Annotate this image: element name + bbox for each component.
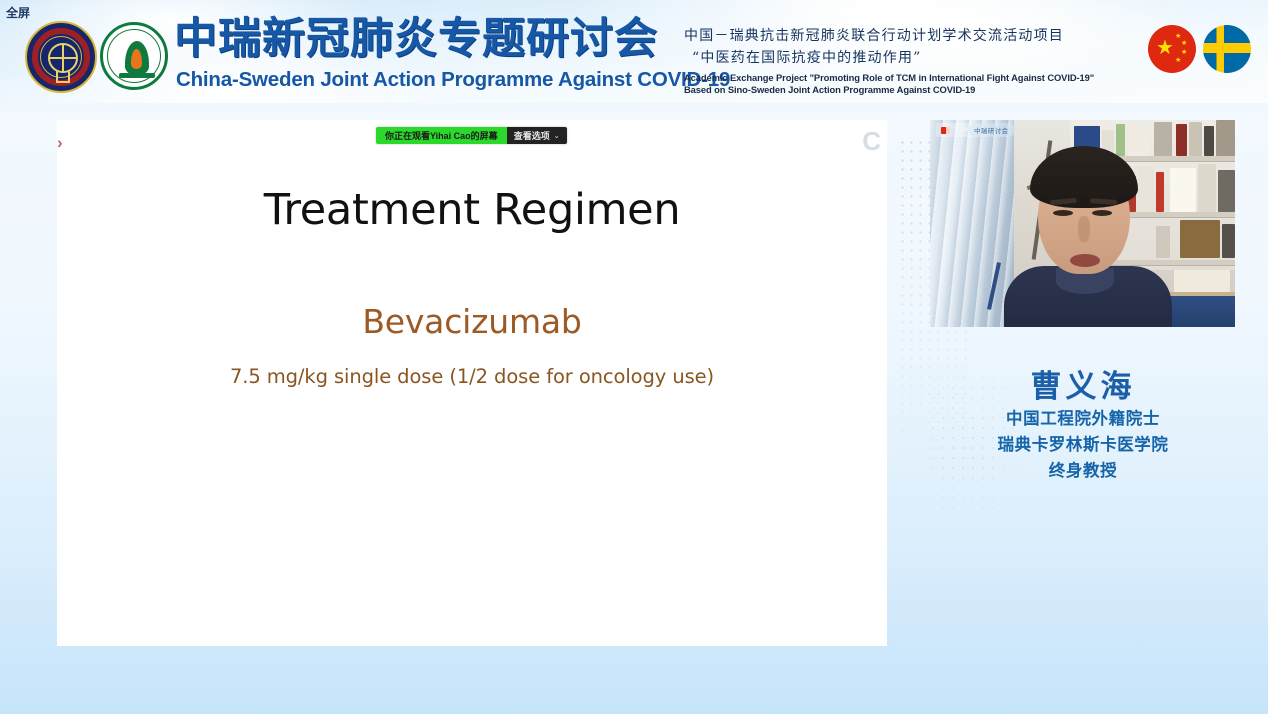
slide-title: Treatment Regimen — [57, 185, 887, 235]
emblem-base-bar — [119, 73, 155, 78]
speaker-nose — [1078, 216, 1090, 242]
speaker-eye-right — [1092, 210, 1112, 216]
slide-dose-text: 7.5 mg/kg single dose (1/2 dose for onco… — [57, 365, 887, 388]
shelf-item — [1156, 172, 1164, 212]
flag-star-small-2: ★ — [1181, 40, 1187, 47]
shelf-item — [1198, 164, 1216, 212]
chevron-down-icon: ⌄ — [554, 132, 560, 140]
shelf-item — [1116, 124, 1125, 156]
shelf-item — [1189, 122, 1202, 156]
flag-star-small-4: ★ — [1175, 57, 1181, 64]
event-header-banner: 中瑞新冠肺炎专题研讨会 China-Sweden Joint Action Pr… — [0, 0, 1268, 103]
fullscreen-label[interactable]: 全屏 — [6, 4, 30, 21]
shared-slide-canvas: › C Treatment Regimen Bevacizumab 7.5 mg… — [57, 120, 887, 646]
subtitle-chinese-line-1: 中国－瑞典抗击新冠肺炎联合行动计划学术交流活动项目 — [684, 25, 1144, 45]
shelf-item — [1204, 126, 1214, 156]
video-secondary-badge-label: 中瑞研讨会 — [974, 125, 1009, 135]
screen-share-notice-text: 你正在观看Yihai Cao的屏幕 — [376, 127, 507, 144]
view-options-button[interactable]: 查看选项 ⌄ — [507, 127, 567, 144]
meeting-screen-share-view: 中瑞新冠肺炎专题研讨会 China-Sweden Joint Action Pr… — [0, 0, 1268, 714]
badge-flag-icon — [941, 127, 950, 134]
subtitle-chinese-line-2: “中医药在国际抗疫中的推动作用” — [684, 47, 1144, 67]
slide-artifact-right-glyph: C — [862, 128, 881, 154]
slide-drug-name: Bevacizumab — [57, 302, 887, 341]
shelf-item — [1218, 170, 1235, 212]
speaker-title-line-1: 中国工程院外籍院士 — [898, 405, 1268, 429]
shelf-item — [1216, 120, 1235, 156]
event-title-english: China-Sweden Joint Action Programme Agai… — [176, 68, 730, 92]
flag-star-small-1: ★ — [1175, 33, 1181, 40]
shelf-item — [1180, 220, 1220, 258]
cacm-emblem-icon — [100, 22, 168, 90]
who-globe-emblem-icon — [25, 21, 97, 93]
sweden-flag-icon — [1203, 25, 1251, 73]
video-secondary-badge: 中瑞研讨会 — [968, 123, 1015, 137]
slide-artifact-left-glyph: › — [57, 133, 63, 153]
speaker-mouth — [1070, 254, 1100, 267]
shelf-item — [1170, 168, 1196, 212]
flame-icon — [131, 49, 142, 69]
screen-share-notification-bar: 你正在观看Yihai Cao的屏幕 查看选项 ⌄ — [376, 127, 567, 144]
shelf-item — [1138, 166, 1154, 212]
speaker-name: 曹义海 — [898, 361, 1268, 406]
shelf-item — [1156, 226, 1170, 258]
flag-star-small-3: ★ — [1181, 49, 1187, 56]
subtitle-english-line-1: Academic Exchange Project "Promoting Rol… — [684, 72, 1144, 83]
shelf-item — [1128, 128, 1150, 156]
shelf-item — [1154, 122, 1172, 156]
shelf-item — [1176, 124, 1187, 156]
globe-stand-icon — [56, 71, 70, 83]
speaker-title-line-3: 终身教授 — [898, 457, 1268, 481]
speaker-title-line-2: 瑞典卡罗林斯卡医学院 — [898, 431, 1268, 455]
event-subtitle-block: 中国－瑞典抗击新冠肺炎联合行动计划学术交流活动项目 “中医药在国际抗疫中的推动作… — [684, 25, 1144, 95]
globe-icon — [48, 43, 78, 73]
china-flag-icon: ★ ★ ★ ★ ★ — [1148, 25, 1196, 73]
speaker-eye-left — [1053, 210, 1073, 216]
subtitle-english-line-2: Based on Sino-Sweden Joint Action Progra… — [684, 84, 1144, 95]
view-options-label: 查看选项 — [514, 129, 550, 142]
shelf-item — [1222, 224, 1235, 258]
speaker-panel: Yihai Cao 中瑞研讨会 曹义海 中国工程院外籍院士 瑞典卡罗林斯卡医学院… — [898, 118, 1268, 538]
speaker-video-tile[interactable]: Yihai Cao 中瑞研讨会 — [930, 120, 1235, 327]
event-title-chinese: 中瑞新冠肺炎专题研讨会 — [174, 18, 658, 61]
flag-star-large: ★ — [1156, 38, 1174, 58]
